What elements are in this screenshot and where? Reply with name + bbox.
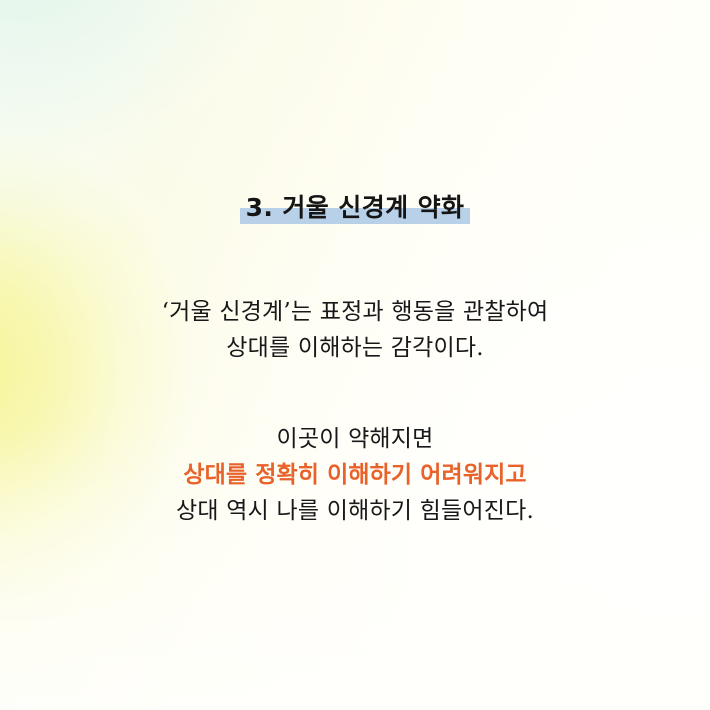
slide-title-block: 3. 거울 신경계 약화 xyxy=(0,191,710,225)
slide-title-inner: 3. 거울 신경계 약화 xyxy=(240,191,471,225)
slide-content: 3. 거울 신경계 약화 ‘거울 신경계’는 표정과 행동을 관찰하여 상대를 … xyxy=(0,0,710,710)
paragraph-definition: ‘거울 신경계’는 표정과 행동을 관찰하여 상대를 이해하는 감각이다. xyxy=(0,294,710,366)
paragraph-consequence: 이곳이 약해지면 상대를 정확히 이해하기 어려워지고 상대 역시 나를 이해하… xyxy=(0,421,710,529)
paragraph-definition-line-1: ‘거울 신경계’는 표정과 행동을 관찰하여 xyxy=(0,294,710,330)
paragraph-consequence-line-3: 상대 역시 나를 이해하기 힘들어진다. xyxy=(0,493,710,529)
paragraph-definition-line-2: 상대를 이해하는 감각이다. xyxy=(0,330,710,366)
slide-title-text: 3. 거울 신경계 약화 xyxy=(246,191,465,225)
paragraph-consequence-line-1: 이곳이 약해지면 xyxy=(0,421,710,457)
slide-canvas: 3. 거울 신경계 약화 ‘거울 신경계’는 표정과 행동을 관찰하여 상대를 … xyxy=(0,0,710,710)
paragraph-consequence-line-2-accent: 상대를 정확히 이해하기 어려워지고 xyxy=(0,457,710,493)
